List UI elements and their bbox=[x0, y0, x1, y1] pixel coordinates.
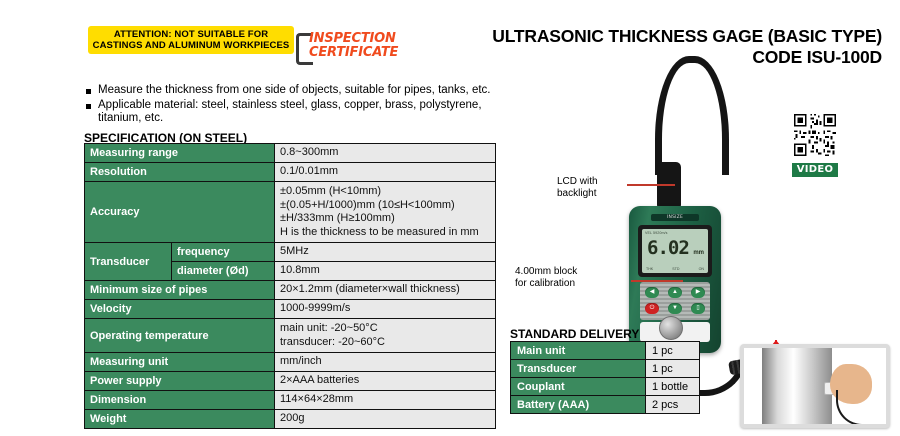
spec-key: Power supply bbox=[85, 372, 275, 391]
lcd-callout-line-1: LCD with bbox=[557, 176, 635, 188]
table-row: Battery (AAA) 2 pcs bbox=[511, 396, 700, 414]
table-row: Weight 200g bbox=[85, 410, 496, 429]
cable-upper bbox=[655, 56, 729, 175]
delivery-item: Transducer bbox=[511, 360, 646, 378]
brand-label bbox=[651, 214, 699, 221]
spec-subkey: frequency bbox=[172, 243, 275, 262]
table-row: Measuring unit mm/inch bbox=[85, 353, 496, 372]
table-row: Accuracy ±0.05mm (H<10mm) ±(0.05+H/1000)… bbox=[85, 182, 496, 243]
spec-key: Velocity bbox=[85, 300, 275, 319]
right-arrow-icon: ▶ bbox=[691, 287, 705, 298]
down-arrow-icon: ▼ bbox=[668, 303, 682, 314]
inspection-certificate-logo: INSPECTION CERTIFICATE bbox=[296, 32, 412, 62]
calibration-block bbox=[659, 316, 683, 340]
lcd-bezel: VEL 5920m/s 6.02 mm THK STD ON bbox=[638, 225, 712, 277]
lcd-callout: LCD with backlight bbox=[557, 176, 635, 200]
spec-value: ±0.05mm (H<10mm) ±(0.05+H/1000)mm (10≤H<… bbox=[275, 182, 496, 243]
spec-value: 2×AAA batteries bbox=[275, 372, 496, 391]
calibration-callout-line-2: for calibration bbox=[515, 278, 637, 290]
list-item: Applicable material: steel, stainless st… bbox=[86, 99, 506, 126]
lcd-unit: mm bbox=[693, 250, 704, 256]
spec-subkey: diameter (Ød) bbox=[172, 262, 275, 281]
spec-value: 5MHz bbox=[275, 243, 496, 262]
attention-line-1: ATTENTION: NOT SUITABLE FOR bbox=[114, 29, 268, 40]
delivery-item: Main unit bbox=[511, 342, 646, 360]
table-row: Dimension 114×64×28mm bbox=[85, 391, 496, 410]
spec-value: 200g bbox=[275, 410, 496, 429]
spec-key: Dimension bbox=[85, 391, 275, 410]
spec-value: 20×1.2mm (diameter×wall thickness) bbox=[275, 281, 496, 300]
table-row: Main unit 1 pc bbox=[511, 342, 700, 360]
delivery-qty: 1 bottle bbox=[646, 378, 700, 396]
product-photo: VEL 5920m/s 6.02 mm THK STD ON ◀ ▲ ▶ bbox=[505, 58, 805, 348]
lcd-reading: 6.02 bbox=[647, 238, 689, 258]
table-row: Resolution 0.1/0.01mm bbox=[85, 163, 496, 182]
delivery-qty: 1 pc bbox=[646, 360, 700, 378]
lcd-status-row: THK STD ON bbox=[646, 267, 704, 271]
spec-value: 10.8mm bbox=[275, 262, 496, 281]
calibration-callout-line-1: 4.00mm block bbox=[515, 266, 637, 278]
inspection-logo-text: INSPECTION CERTIFICATE bbox=[309, 32, 398, 60]
spec-value: 0.1/0.01mm bbox=[275, 163, 496, 182]
spec-key: Operating temperature bbox=[85, 319, 275, 353]
spec-key: Weight bbox=[85, 410, 275, 429]
standard-delivery-table: Main unit 1 pc Transducer 1 pc Couplant … bbox=[510, 341, 700, 414]
spec-key: Transducer bbox=[85, 243, 172, 281]
left-arrow-icon: ◀ bbox=[645, 287, 659, 298]
backlight-button[interactable]: ▯ bbox=[691, 303, 705, 314]
right-arrow-button[interactable]: ▶ bbox=[691, 287, 705, 298]
left-arrow-button[interactable]: ◀ bbox=[645, 287, 659, 298]
pipe-image bbox=[762, 348, 832, 424]
table-row: Operating temperature main unit: -20~50°… bbox=[85, 319, 496, 353]
spec-key: Accuracy bbox=[85, 182, 275, 243]
table-row: Minimum size of pipes 20×1.2mm (diameter… bbox=[85, 281, 496, 300]
lcd-status-center: STD bbox=[672, 267, 679, 271]
spec-value: 114×64×28mm bbox=[275, 391, 496, 410]
feature-list: Measure the thickness from one side of o… bbox=[86, 84, 506, 127]
spec-value: 1000-9999m/s bbox=[275, 300, 496, 319]
table-row: Transducer 1 pc bbox=[511, 360, 700, 378]
probe-wire bbox=[836, 390, 872, 426]
application-photo bbox=[740, 344, 890, 428]
spec-value: main unit: -20~50°C transducer: -20~60°C bbox=[275, 319, 496, 353]
power-icon: ⏻ bbox=[645, 303, 659, 314]
power-button[interactable]: ⏻ bbox=[645, 303, 659, 314]
backlight-icon: ▯ bbox=[691, 303, 705, 314]
table-row: Power supply 2×AAA batteries bbox=[85, 372, 496, 391]
lcd-callout-line-2: backlight bbox=[557, 188, 635, 200]
table-row: Measuring range 0.8~300mm bbox=[85, 144, 496, 163]
inspection-logo-line-2: CERTIFICATE bbox=[309, 46, 398, 60]
attention-line-2: CASTINGS AND ALUMINUM WORKPIECES bbox=[93, 40, 290, 51]
lcd-screen: VEL 5920m/s 6.02 mm THK STD ON bbox=[642, 229, 708, 273]
spec-key: Measuring unit bbox=[85, 353, 275, 372]
table-row: Couplant 1 bottle bbox=[511, 378, 700, 396]
calibration-callout: 4.00mm block for calibration bbox=[515, 266, 637, 290]
table-row: Transducer frequency 5MHz bbox=[85, 243, 496, 262]
lcd-top-text: VEL 5920m/s bbox=[645, 231, 668, 235]
attention-banner: ATTENTION: NOT SUITABLE FOR CASTINGS AND… bbox=[88, 26, 294, 54]
spec-key: Measuring range bbox=[85, 144, 275, 163]
up-arrow-button[interactable]: ▲ bbox=[668, 287, 682, 298]
calibration-callout-line bbox=[631, 280, 683, 282]
datasheet-page: ATTENTION: NOT SUITABLE FOR CASTINGS AND… bbox=[0, 0, 900, 436]
lcd-status-left: THK bbox=[646, 267, 653, 271]
specification-table: Measuring range 0.8~300mm Resolution 0.1… bbox=[84, 143, 496, 429]
spec-key: Minimum size of pipes bbox=[85, 281, 275, 300]
spec-value: mm/inch bbox=[275, 353, 496, 372]
delivery-qty: 2 pcs bbox=[646, 396, 700, 414]
delivery-qty: 1 pc bbox=[646, 342, 700, 360]
up-arrow-icon: ▲ bbox=[668, 287, 682, 298]
spec-value: 0.8~300mm bbox=[275, 144, 496, 163]
lcd-status-right: ON bbox=[699, 267, 704, 271]
keypad: ◀ ▲ ▶ ⏻ ▼ ▯ bbox=[640, 282, 710, 320]
list-item: Measure the thickness from one side of o… bbox=[86, 84, 506, 98]
table-row: Velocity 1000-9999m/s bbox=[85, 300, 496, 319]
delivery-item: Battery (AAA) bbox=[511, 396, 646, 414]
standard-delivery-heading: STANDARD DELIVERY bbox=[510, 327, 639, 341]
delivery-item: Couplant bbox=[511, 378, 646, 396]
title-line-1: ULTRASONIC THICKNESS GAGE (BASIC TYPE) bbox=[420, 26, 882, 47]
cable-connector bbox=[657, 162, 681, 210]
spec-key: Resolution bbox=[85, 163, 275, 182]
down-arrow-button[interactable]: ▼ bbox=[668, 303, 682, 314]
inspection-logo-line-1: INSPECTION bbox=[309, 32, 398, 46]
